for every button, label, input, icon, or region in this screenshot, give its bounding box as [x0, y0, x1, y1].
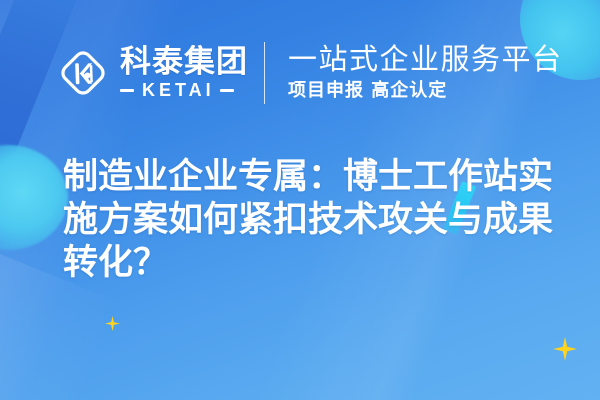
- brand-name-en: KETAI: [142, 81, 215, 100]
- brand-text-block: 科泰集团 KETAI: [120, 46, 248, 100]
- banner-header: 科泰集团 KETAI 一站式企业服务平台 项目申报 高企认定: [0, 0, 600, 145]
- promo-banner: 科泰集团 KETAI 一站式企业服务平台 项目申报 高企认定 制造业企业专属：博…: [0, 0, 600, 400]
- brand-name-en-row: KETAI: [120, 81, 248, 100]
- cyan-glow-left: [0, 145, 68, 250]
- brand-dash-right-icon: [220, 89, 234, 92]
- tagline-block: 一站式企业服务平台 项目申报 高企认定: [288, 43, 563, 102]
- sparkle-icon-large: [553, 337, 577, 361]
- header-divider: [264, 42, 265, 104]
- tagline-primary: 一站式企业服务平台: [288, 43, 563, 76]
- brand-dash-left-icon: [120, 89, 134, 92]
- ketai-monogram-icon: [56, 46, 110, 100]
- brand-logo: 科泰集团 KETAI: [56, 46, 248, 100]
- brand-name-cn: 科泰集团: [120, 46, 248, 78]
- headline-text: 制造业企业专属：博士工作站实施方案如何紧扣技术攻关与成果转化？: [63, 156, 553, 285]
- tagline-secondary: 项目申报 高企认定: [288, 80, 563, 102]
- sparkle-icon-small: [105, 316, 120, 331]
